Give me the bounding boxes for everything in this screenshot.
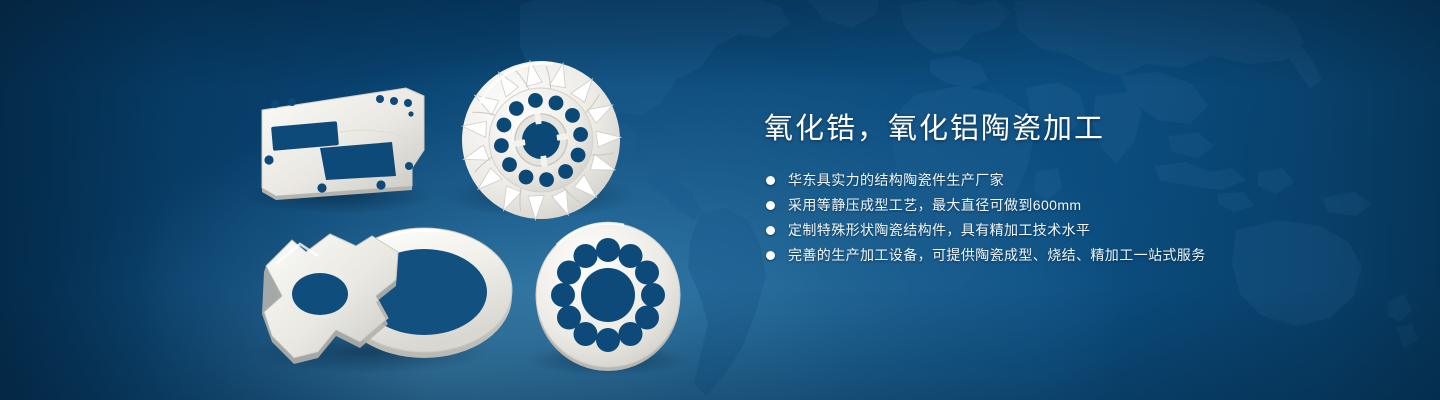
ceramic-mounting-plate (262, 88, 424, 200)
banner-headline: 氧化锆，氧化铝陶瓷加工 (764, 108, 1384, 150)
list-item: 采用等静压成型工艺，最大直径可做到600mm (766, 197, 1384, 213)
bullet-dot-icon (766, 251, 775, 260)
list-item: 完善的生产加工设备，可提供陶瓷成型、烧结、精加工一站式服务 (766, 247, 1384, 263)
feature-text: 采用等静压成型工艺，最大直径可做到600mm (788, 197, 1081, 213)
feature-text: 华东具实力的结构陶瓷件生产厂家 (788, 172, 1004, 188)
bullet-dot-icon (766, 201, 775, 210)
list-item: 定制特殊形状陶瓷结构件，具有精加工技术水平 (766, 222, 1384, 238)
feature-text: 定制特殊形状陶瓷结构件，具有精加工技术水平 (788, 222, 1090, 238)
bullet-dot-icon (766, 226, 775, 235)
feature-text: 完善的生产加工设备，可提供陶瓷成型、烧结、精加工一站式服务 (788, 247, 1206, 263)
banner-text-block: 氧化锆，氧化铝陶瓷加工 华东具实力的结构陶瓷件生产厂家 采用等静压成型工艺，最大… (764, 108, 1384, 272)
ceramic-products-image (0, 0, 760, 400)
feature-list: 华东具实力的结构陶瓷件生产厂家 采用等静压成型工艺，最大直径可做到600mm 定… (766, 172, 1384, 263)
ceramic-perforated-disc (536, 223, 680, 371)
list-item: 华东具实力的结构陶瓷件生产厂家 (766, 172, 1384, 188)
hero-banner: 氧化锆，氧化铝陶瓷加工 华东具实力的结构陶瓷件生产厂家 采用等静压成型工艺，最大… (0, 0, 1440, 400)
bullet-dot-icon (766, 176, 775, 185)
